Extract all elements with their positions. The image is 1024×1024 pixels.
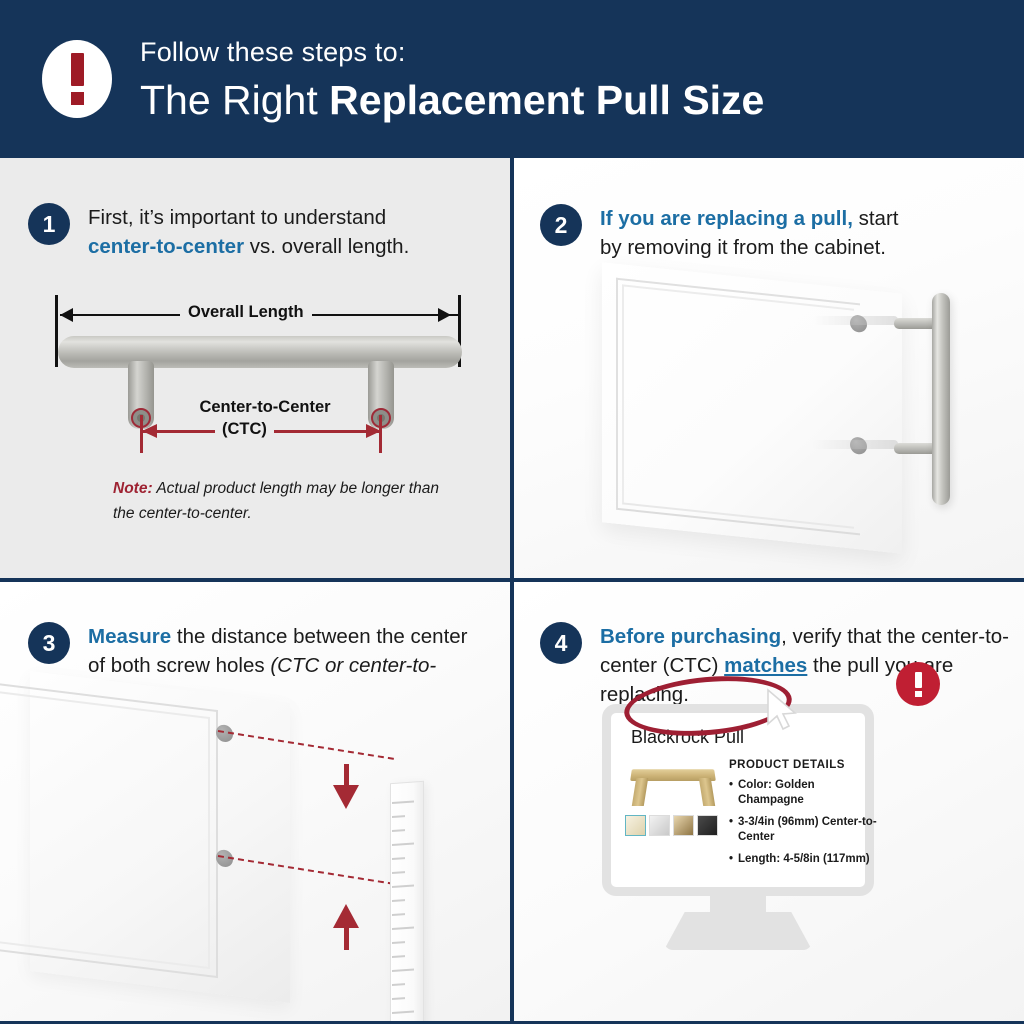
ctc-arrow-right-icon bbox=[366, 424, 381, 438]
page-title: The Right Replacement Pull Size bbox=[140, 75, 764, 125]
header-subtitle: Follow these steps to: bbox=[140, 35, 764, 69]
step-2-badge: 2 bbox=[540, 204, 582, 246]
pull-measurement-diagram: Overall Length Center-to-Center (CTC) bbox=[50, 303, 470, 463]
removed-pull-bar bbox=[932, 293, 950, 505]
product-length-note: Note: Actual product length may be longe… bbox=[113, 476, 443, 526]
overall-length-arrow-left-icon bbox=[60, 308, 73, 322]
step-1-text: First, it’s important to understandcente… bbox=[88, 203, 488, 261]
step-2-heading: 2 If you are replacing a pull, start by … bbox=[540, 204, 900, 262]
measure-arrow-bottom-stem bbox=[344, 928, 349, 950]
bar-pull-graphic bbox=[58, 336, 462, 368]
thumbnail-3[interactable] bbox=[673, 815, 694, 836]
step-4-matches-link[interactable]: matches bbox=[724, 654, 807, 677]
cabinet-door-measuring-graphic bbox=[30, 671, 290, 1003]
horizontal-divider bbox=[0, 578, 1024, 582]
ctc-label: Center-to-Center bbox=[165, 398, 365, 417]
step-panel-1: 1 First, it’s important to understandcen… bbox=[0, 158, 510, 578]
thumbnail-4[interactable] bbox=[697, 815, 718, 836]
step-1-badge: 1 bbox=[28, 203, 70, 245]
step-2-accent: If you are replacing a pull, bbox=[600, 207, 853, 230]
measure-arrow-top-stem bbox=[344, 764, 349, 786]
page-title-light: The Right bbox=[140, 77, 329, 123]
header-text-block: Follow these steps to: The Right Replace… bbox=[140, 35, 764, 125]
measure-arrow-down-icon bbox=[333, 785, 359, 809]
product-detail-length: Length: 4-5/8in (117mm) bbox=[729, 852, 879, 867]
step-1-line2: vs. overall length. bbox=[244, 235, 409, 258]
monitor-base bbox=[664, 912, 812, 950]
step-panel-4: 4 Before purchasing, verify that the cen… bbox=[514, 582, 1024, 1024]
step-1-heading: 1 First, it’s important to understandcen… bbox=[28, 203, 488, 261]
mouse-cursor-icon bbox=[766, 688, 800, 732]
alert-exclamation-icon bbox=[896, 662, 940, 706]
cabinet-door-graphic bbox=[602, 262, 902, 554]
overall-length-arrow-right-icon bbox=[438, 308, 451, 322]
step-panel-3: 3 Measure the distance between the cente… bbox=[0, 582, 510, 1024]
overall-length-label: Overall Length bbox=[180, 303, 312, 322]
page-header: Follow these steps to: The Right Replace… bbox=[0, 0, 1024, 158]
pull-motion-smear-top bbox=[812, 316, 898, 325]
step-1-accent: center-to-center bbox=[88, 235, 244, 258]
step-3-accent: Measure bbox=[88, 625, 171, 648]
ctc-abbrev-label: (CTC) bbox=[215, 420, 274, 439]
overall-length-cap-left bbox=[55, 295, 58, 367]
step-1-line1: First, it’s important to understand bbox=[88, 206, 386, 229]
product-detail-ctc: 3-3/4in (96mm) Center-to-Center bbox=[729, 815, 879, 844]
step-4-accent: Before purchasing bbox=[600, 625, 781, 648]
product-image bbox=[625, 761, 721, 811]
step-2-text: If you are replacing a pull, start by re… bbox=[600, 204, 900, 262]
product-thumbnail-strip[interactable] bbox=[625, 815, 718, 836]
note-label: Note: bbox=[113, 480, 153, 497]
alert-exclamation-icon bbox=[42, 40, 112, 118]
step-panel-2: 2 If you are replacing a pull, start by … bbox=[514, 158, 1024, 578]
thumbnail-2[interactable] bbox=[649, 815, 670, 836]
pull-motion-smear-bottom bbox=[812, 440, 898, 449]
ruler-graphic bbox=[390, 781, 424, 1024]
product-detail-color: Color: Golden Champagne bbox=[729, 778, 879, 807]
page-title-bold: Replacement Pull Size bbox=[329, 77, 764, 123]
step-3-badge: 3 bbox=[28, 622, 70, 664]
product-details-heading: PRODUCT DETAILS bbox=[729, 759, 879, 771]
thumbnail-1[interactable] bbox=[625, 815, 646, 836]
product-details-block: PRODUCT DETAILS Color: Golden Champagne … bbox=[729, 759, 879, 875]
step-4-badge: 4 bbox=[540, 622, 582, 664]
note-body: Actual product length may be longer than… bbox=[113, 480, 439, 522]
vertical-divider bbox=[510, 158, 514, 1024]
measure-arrow-up-icon bbox=[333, 904, 359, 928]
monitor-screen: Blackrock Pull PRODUCT DETAILS Color: Go… bbox=[602, 704, 874, 896]
ctc-arrow-left-icon bbox=[142, 424, 157, 438]
